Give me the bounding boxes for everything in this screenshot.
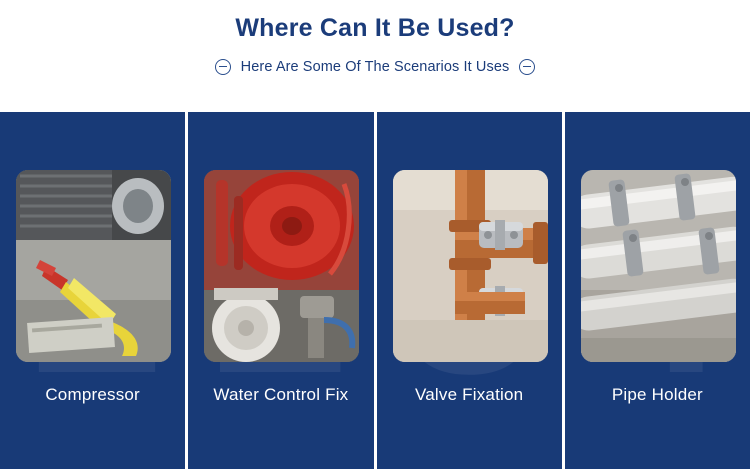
page-subtitle: Here Are Some Of The Scenarios It Uses: [241, 59, 510, 75]
scenario-panel-compressor[interactable]: 1: [0, 112, 188, 469]
page-root: Where Can It Be Used? Here Are Some Of T…: [0, 0, 750, 469]
dash-circle-icon-right: [519, 59, 535, 75]
compressor-clamp-photo: [16, 170, 171, 362]
panel-caption: Compressor: [0, 385, 185, 405]
header: Where Can It Be Used? Here Are Some Of T…: [0, 0, 750, 112]
scenario-panel-water-control-fix[interactable]: 2: [188, 112, 376, 469]
panel-caption: Water Control Fix: [188, 385, 373, 405]
subtitle-row: Here Are Some Of The Scenarios It Uses: [0, 59, 750, 75]
panel-caption: Pipe Holder: [565, 385, 750, 405]
copper-pipe-clamps-photo: [393, 170, 548, 362]
water-control-valve-photo: [204, 170, 359, 362]
page-title: Where Can It Be Used?: [0, 0, 750, 43]
dash-circle-icon-left: [215, 59, 231, 75]
panel-caption: Valve Fixation: [377, 385, 562, 405]
scenario-panels: 1: [0, 112, 750, 469]
scenario-panel-pipe-holder[interactable]: 4: [565, 112, 750, 469]
pipe-holder-photo: [581, 170, 736, 362]
scenario-panel-valve-fixation[interactable]: 3: [377, 112, 565, 469]
